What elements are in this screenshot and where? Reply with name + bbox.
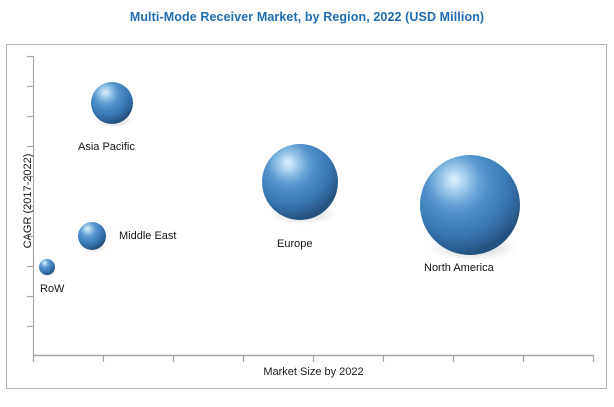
bubble-chart: Multi-Mode Receiver Market, by Region, 2…: [0, 0, 614, 407]
bubble-label-middle-east: Middle East: [119, 230, 176, 242]
bubble-label-asia-pacific: Asia Pacific: [78, 141, 135, 153]
y-axis-title: CAGR (2017-2022): [22, 121, 34, 281]
bubble-label-north-america: North America: [424, 262, 494, 274]
x-axis-title: Market Size by 2022: [33, 366, 594, 378]
bubble-north-america[interactable]: [420, 155, 520, 261]
chart-canvas: [0, 0, 614, 407]
bubble-middle-east[interactable]: [78, 222, 107, 253]
bubble-asia-pacific[interactable]: [91, 82, 133, 128]
bubble-row[interactable]: [39, 259, 56, 277]
bubble-label-europe: Europe: [277, 238, 312, 250]
bubble-europe[interactable]: [262, 144, 338, 225]
bubble-label-row: RoW: [40, 283, 64, 295]
